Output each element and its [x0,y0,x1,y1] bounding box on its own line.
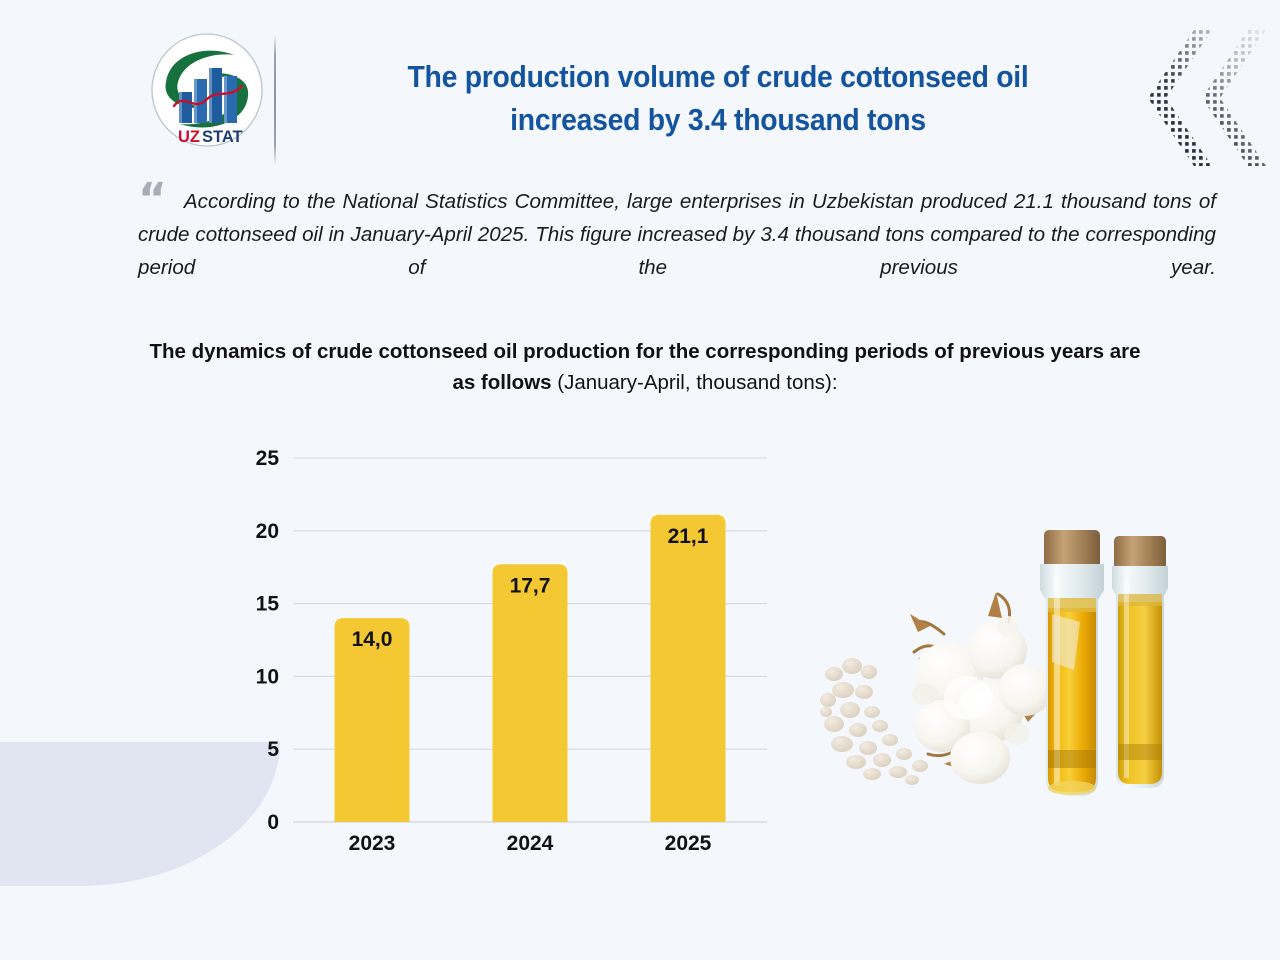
cotton-seeds [820,658,928,785]
page-title-line-1: The production volume of crude cottonsee… [307,56,1129,99]
cotton-bolls [912,616,1052,784]
x-axis-category-label: 2025 [665,832,712,855]
y-axis-tick-label: 15 [256,593,280,616]
y-axis-tick-label: 20 [256,520,279,543]
cotton-and-oil-image [812,522,1208,810]
x-axis-category-label: 2024 [507,832,554,855]
uzstat-logo: UZ STAT [148,30,266,156]
bar-2025 [651,515,726,822]
quote-mark-icon: “ [138,174,166,225]
bar-chart: 051015202514,0202317,7202421,12025 [232,440,777,860]
page-title-line-2: increased by 3.4 thousand tons [307,99,1129,142]
y-axis-tick-label: 25 [256,447,280,470]
bar-value-label: 21,1 [668,525,709,548]
lead-paragraph: “According to the National Statistics Co… [138,185,1216,317]
page-header: UZ STAT The production volume of crude c… [0,30,1280,175]
y-axis-tick-label: 0 [267,811,279,834]
chart-caption-regular: (January-April, thousand tons): [552,371,838,394]
y-axis-tick-label: 5 [267,738,279,761]
bar-value-label: 17,7 [510,574,551,597]
bar-2024 [493,564,568,822]
chart-caption: The dynamics of crude cottonseed oil pro… [140,336,1150,398]
bar-value-label: 14,0 [352,628,393,651]
lead-paragraph-text: According to the National Statistics Com… [138,190,1216,279]
page-title: The production volume of crude cottonsee… [276,30,1280,143]
y-axis-tick-label: 10 [256,665,279,688]
oil-bottle-front [1040,530,1104,796]
svg-text:STAT: STAT [202,128,243,146]
oil-bottle-back [1112,536,1168,788]
x-axis-category-label: 2023 [349,832,396,855]
svg-text:UZ: UZ [178,128,200,146]
